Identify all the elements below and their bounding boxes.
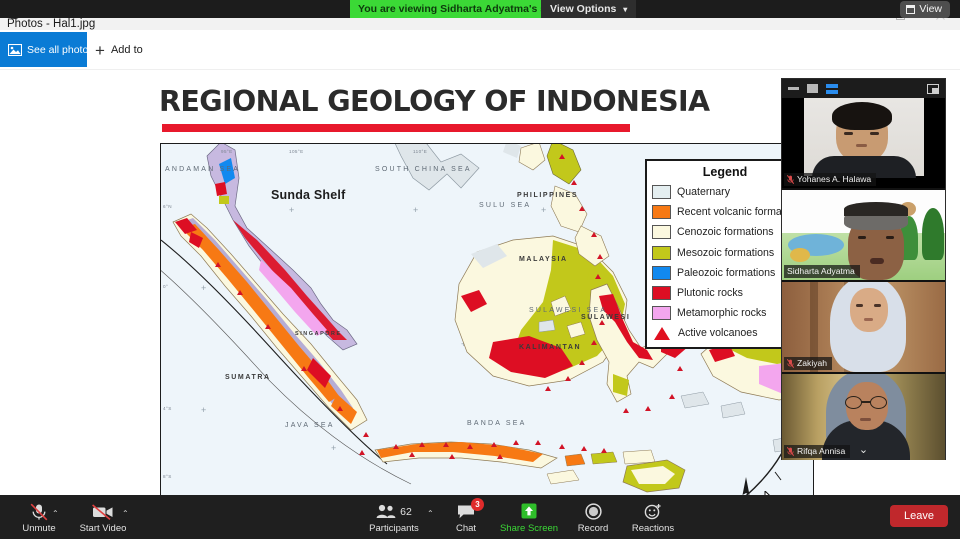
legend-swatch [652, 286, 671, 300]
volcano-marker [597, 254, 603, 259]
volcano-marker [443, 442, 449, 447]
reactions-label: Reactions [632, 523, 674, 534]
volcano-marker [645, 406, 651, 411]
popout-icon[interactable] [927, 84, 939, 94]
add-to-label: Add to [111, 44, 143, 56]
chat-bubble-icon: 3 [457, 502, 475, 521]
participant-name: Zakiyah [797, 358, 827, 368]
volcano-marker [677, 366, 683, 371]
volcano-marker [623, 408, 629, 413]
volcano-marker [601, 448, 607, 453]
volcano-marker [565, 376, 571, 381]
volcano-marker [535, 440, 541, 445]
legend-swatch [652, 266, 671, 280]
title-underline-rule [162, 124, 630, 132]
volcano-marker [363, 432, 369, 437]
video-tile[interactable]: Yohanes A. Halawa [782, 98, 945, 188]
participants-label: Participants [369, 523, 419, 534]
video-panel-header [782, 79, 945, 98]
volcano-marker [579, 206, 585, 211]
view-pill-label: View [919, 3, 942, 15]
volcano-marker [605, 296, 611, 301]
volcano-marker [449, 454, 455, 459]
volcano-marker [491, 442, 497, 447]
legend-swatch [652, 246, 671, 260]
legend-item-cenozoic: Cenozoic formations [647, 222, 803, 242]
chevron-down-icon: ▾ [623, 5, 627, 14]
volcano-marker [359, 450, 365, 455]
see-all-photos-label: See all photos [27, 44, 94, 56]
geology-slide: REGIONAL GEOLOGY OF INDONESIA + + + + + … [0, 71, 820, 495]
legend-label: Metamorphic rocks [677, 307, 766, 319]
people-icon: 62 [376, 502, 412, 521]
video-tile[interactable]: Zakiyah [782, 282, 945, 372]
reactions-button[interactable]: Reactions [622, 499, 684, 537]
legend-label: Active volcanoes [678, 327, 758, 339]
zoom-share-banner-bar: You are viewing Sidharta Adyatma's scree… [0, 0, 960, 18]
participants-button[interactable]: 62 Participants [358, 499, 430, 537]
volcano-marker [419, 442, 425, 447]
legend-item-metamorphic: Metamorphic rocks [647, 303, 803, 323]
photos-toolbar: See all photos + Add to [0, 30, 960, 70]
participant-name-badge: Zakiyah [784, 357, 832, 371]
video-options-chevron-icon[interactable]: ⌃ [122, 509, 129, 518]
microphone-off-icon [787, 359, 794, 368]
volcano-marker [301, 366, 307, 371]
record-circle-icon [585, 502, 602, 521]
volcano-marker [579, 360, 585, 365]
legend-label: Quaternary [677, 186, 730, 198]
audio-options-chevron-icon[interactable]: ⌃ [52, 509, 59, 518]
legend-item-quaternary: Quaternary [647, 182, 803, 202]
zoom-meeting-toolbar: Unmute ⌃ Start Video ⌃ [0, 495, 960, 539]
participant-name: Yohanes A. Halawa [797, 174, 871, 184]
volcano-marker [497, 454, 503, 459]
chat-label: Chat [456, 523, 476, 534]
share-screen-button[interactable]: Share Screen [494, 499, 564, 537]
volcano-marker [571, 180, 577, 185]
window-title: Photos - Hal1.jpg [7, 18, 95, 30]
volcano-marker [393, 444, 399, 449]
start-video-label: Start Video [80, 523, 127, 534]
volcano-marker [581, 446, 587, 451]
legend-item-mesozoic: Mesozoic formations [647, 243, 803, 263]
legend-item-recent-volcanic: Recent volcanic formations [647, 202, 803, 222]
plus-icon: + [95, 42, 105, 59]
volcano-marker [669, 394, 675, 399]
speaker-view-icon[interactable] [807, 84, 818, 93]
leave-button[interactable]: Leave [890, 505, 948, 527]
volcano-marker [513, 440, 519, 445]
chat-button[interactable]: 3 Chat [444, 499, 488, 537]
record-button[interactable]: Record [566, 499, 620, 537]
add-to-button[interactable]: + Add to [95, 38, 143, 62]
legend-swatch-triangle [654, 327, 670, 340]
see-all-photos-button[interactable]: See all photos [0, 32, 87, 67]
participants-options-chevron-icon[interactable]: ⌃ [427, 509, 434, 518]
volcano-marker [409, 452, 415, 457]
photo-library-icon [8, 44, 22, 56]
minimize-icon[interactable] [788, 87, 799, 90]
video-tile[interactable]: Rifqa Annisa ⌄ [782, 374, 945, 460]
legend-item-paleozoic: Paleozoic formations [647, 263, 803, 283]
video-tile[interactable]: Sidharta Adyatma [782, 190, 945, 280]
chat-unread-badge: 3 [471, 498, 484, 511]
grid-view-icon [906, 5, 915, 14]
volcano-marker [545, 386, 551, 391]
participants-count: 62 [400, 506, 412, 518]
volcano-marker [591, 232, 597, 237]
unmute-label: Unmute [22, 523, 55, 534]
smiley-icon [644, 502, 662, 521]
volcano-marker [559, 154, 565, 159]
legend-label: Mesozoic formations [677, 247, 774, 259]
microphone-off-icon [787, 175, 794, 184]
screen-root: ✓ Photos - Hal1.jpg [0, 0, 960, 539]
view-options-label: View Options [550, 3, 616, 15]
participant-name: Sidharta Adyatma [787, 266, 855, 276]
volcano-marker [215, 262, 221, 267]
legend-label: Cenozoic formations [677, 226, 774, 238]
start-video-button[interactable]: Start Video [68, 499, 138, 537]
legend-item-plutonic: Plutonic rocks [647, 283, 803, 303]
volcano-marker [237, 290, 243, 295]
volcano-marker [599, 320, 605, 325]
legend-swatch [652, 205, 671, 219]
volcano-marker [467, 444, 473, 449]
slide-title: REGIONAL GEOLOGY OF INDONESIA [159, 85, 710, 118]
volcano-marker [591, 340, 597, 345]
unmute-button[interactable]: Unmute [10, 499, 68, 537]
legend-swatch [652, 306, 671, 320]
gallery-view-icon[interactable] [826, 84, 838, 94]
participant-name-badge: Yohanes A. Halawa [784, 173, 876, 187]
share-screen-label: Share Screen [500, 523, 558, 534]
legend-label: Paleozoic formations [677, 267, 775, 279]
legend-swatch [652, 225, 671, 239]
legend-label: Plutonic rocks [677, 287, 743, 299]
chevron-down-icon[interactable]: ⌄ [782, 445, 945, 456]
zoom-video-panel[interactable]: Yohanes A. Halawa Sidharta Adyatma [781, 78, 946, 460]
volcano-marker [337, 406, 343, 411]
legend-title: Legend [647, 165, 803, 179]
legend-swatch [652, 185, 671, 199]
record-label: Record [578, 523, 609, 534]
view-toggle-pill[interactable]: View [900, 1, 950, 18]
legend-item-active-volcanoes: Active volcanoes [647, 323, 803, 343]
microphone-off-icon [30, 502, 48, 521]
view-options-button[interactable]: View Options ▾ [541, 0, 636, 18]
volcano-marker [559, 444, 565, 449]
camera-off-icon [92, 502, 114, 521]
volcano-marker [265, 324, 271, 329]
north-arrow-icon: N [734, 477, 758, 495]
volcano-marker [595, 274, 601, 279]
participant-name-badge: Sidharta Adyatma [784, 265, 860, 279]
share-screen-icon [519, 502, 539, 521]
